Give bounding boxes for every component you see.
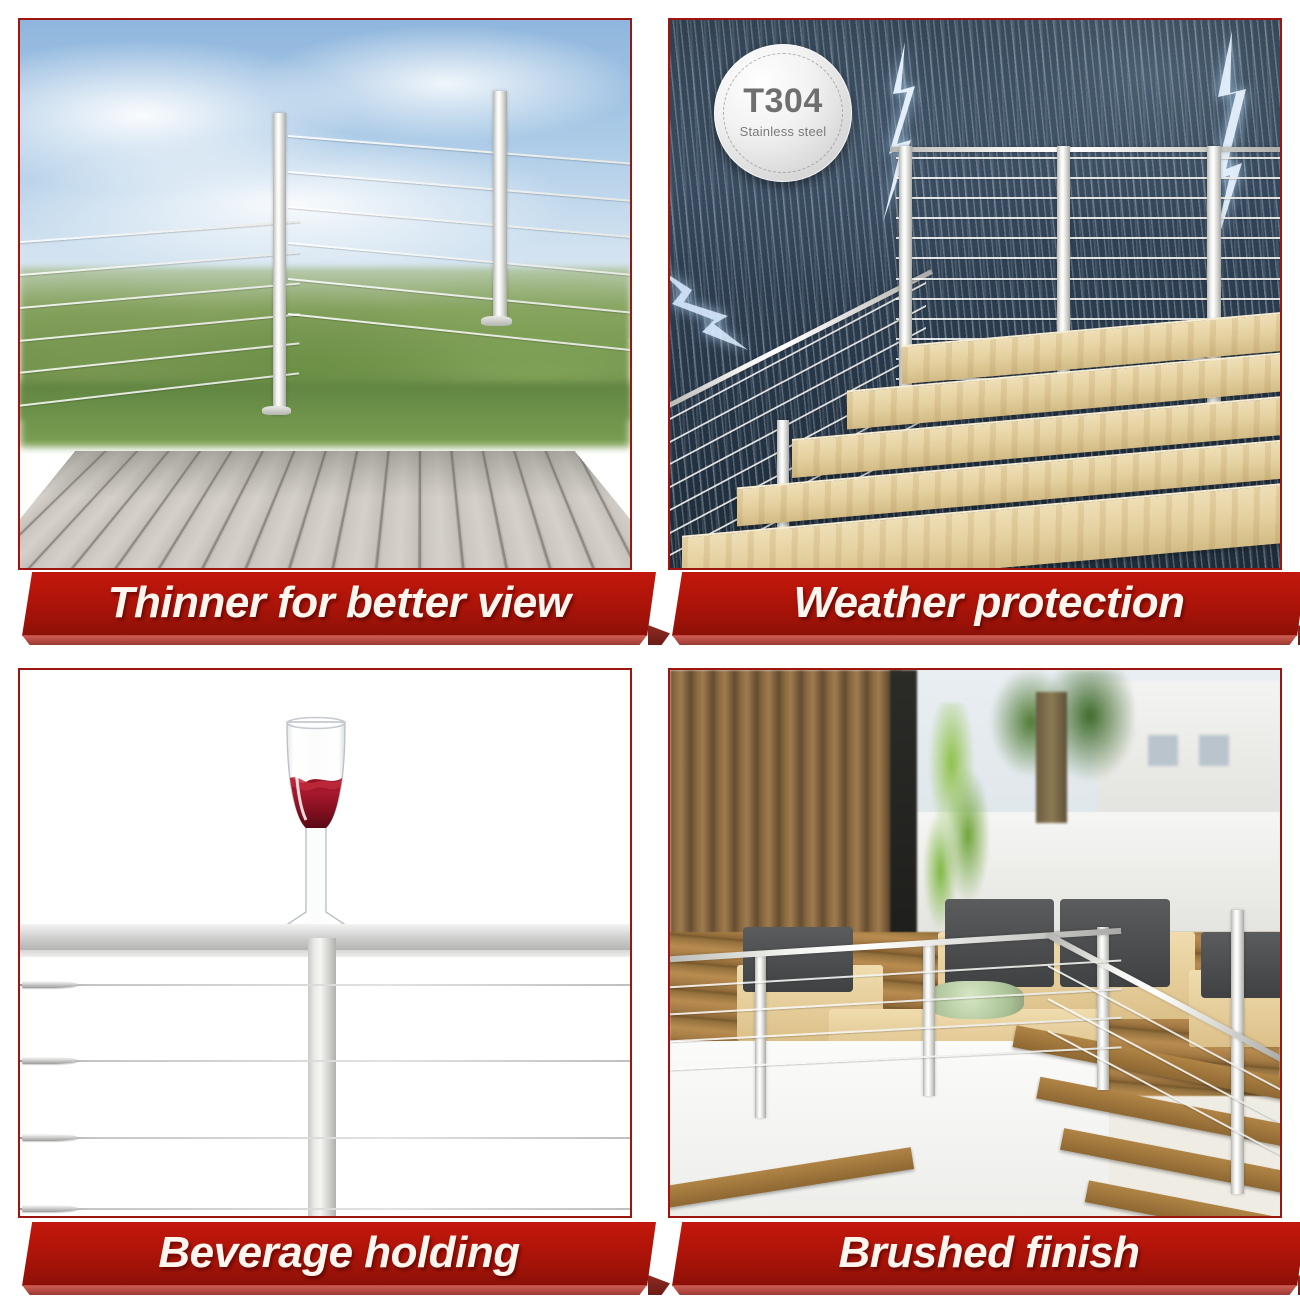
caption-banner: Weather protection	[672, 572, 1300, 636]
deck-view-scene	[20, 20, 630, 568]
cable-tensioner-fitting	[22, 1134, 78, 1141]
cable-line	[20, 251, 300, 276]
cable-tensioner-fitting	[22, 1205, 78, 1212]
cable-line	[20, 1060, 630, 1062]
badge-title: T304	[743, 84, 823, 118]
post-base-plate	[481, 316, 512, 326]
cable-line	[20, 313, 299, 343]
caption-banner: Thinner for better view	[22, 572, 656, 636]
badge-subtitle: Stainless steel	[740, 124, 827, 139]
panel-frame	[18, 668, 632, 1218]
caption-banner: Brushed finish	[672, 1222, 1300, 1286]
cable-line	[288, 278, 630, 315]
feature-grid-sheet: Thinner for better view	[0, 0, 1300, 1300]
cable-railing-assembly	[20, 20, 630, 568]
banner-shadow-edge	[672, 1285, 1300, 1295]
banner-shadow-edge	[22, 635, 656, 645]
banner-shadow-edge	[22, 1285, 656, 1295]
railing-post	[1097, 927, 1109, 1091]
cable-line	[20, 282, 300, 310]
cable-line	[288, 171, 630, 203]
beverage-scene	[20, 670, 630, 1216]
railing-post	[923, 943, 935, 1096]
cable-line	[896, 237, 1280, 239]
cable-line	[20, 373, 299, 409]
cable-line	[896, 298, 1280, 300]
caption-text: Beverage holding	[22, 1222, 656, 1286]
cable-line	[20, 984, 630, 986]
cable-line	[20, 343, 299, 376]
cable-line	[20, 1208, 630, 1210]
feature-panel-weather-protection[interactable]: T304 Stainless steel Weather protection	[650, 0, 1300, 650]
railing-post	[273, 113, 286, 414]
panel-frame	[668, 668, 1282, 1218]
feature-panel-beverage-holding[interactable]: Beverage holding	[0, 650, 650, 1300]
cable-line	[896, 177, 1280, 179]
cable-line	[20, 220, 300, 243]
cable-tensioner-fitting	[22, 981, 78, 988]
cable-line	[896, 157, 1280, 159]
t304-stainless-badge: T304 Stainless steel	[714, 44, 852, 182]
banner-shadow-edge	[672, 635, 1300, 645]
feature-panel-thinner-for-better-view[interactable]: Thinner for better view	[0, 0, 650, 650]
feature-panel-brushed-finish[interactable]: Brushed finish	[650, 650, 1300, 1300]
caption-banner: Beverage holding	[22, 1222, 656, 1286]
wooden-stairs	[682, 327, 1280, 568]
cable-line	[896, 257, 1280, 259]
panel-frame	[18, 18, 632, 570]
cable-line	[288, 313, 630, 352]
cable-line	[288, 206, 630, 239]
railing-post	[493, 91, 507, 321]
cable-line	[896, 217, 1280, 219]
cable-line	[896, 278, 1280, 280]
caption-text: Thinner for better view	[22, 572, 656, 636]
railing-post	[1231, 910, 1244, 1194]
patio-scene	[670, 670, 1280, 1216]
caption-text: Brushed finish	[672, 1222, 1300, 1286]
railing-post	[308, 938, 336, 1216]
tree-trunk	[1036, 692, 1067, 823]
railing-top-rail	[890, 147, 1280, 152]
cable-line	[288, 135, 630, 165]
caption-text: Weather protection	[672, 572, 1300, 636]
cable-line	[288, 242, 630, 277]
succulent-centerpiece	[926, 981, 1024, 1019]
post-base-plate	[262, 406, 291, 415]
panel-grid: Thinner for better view	[0, 0, 1300, 1300]
cable-line	[20, 1137, 630, 1139]
cable-line	[896, 197, 1280, 199]
panel-frame: T304 Stainless steel	[668, 18, 1282, 570]
